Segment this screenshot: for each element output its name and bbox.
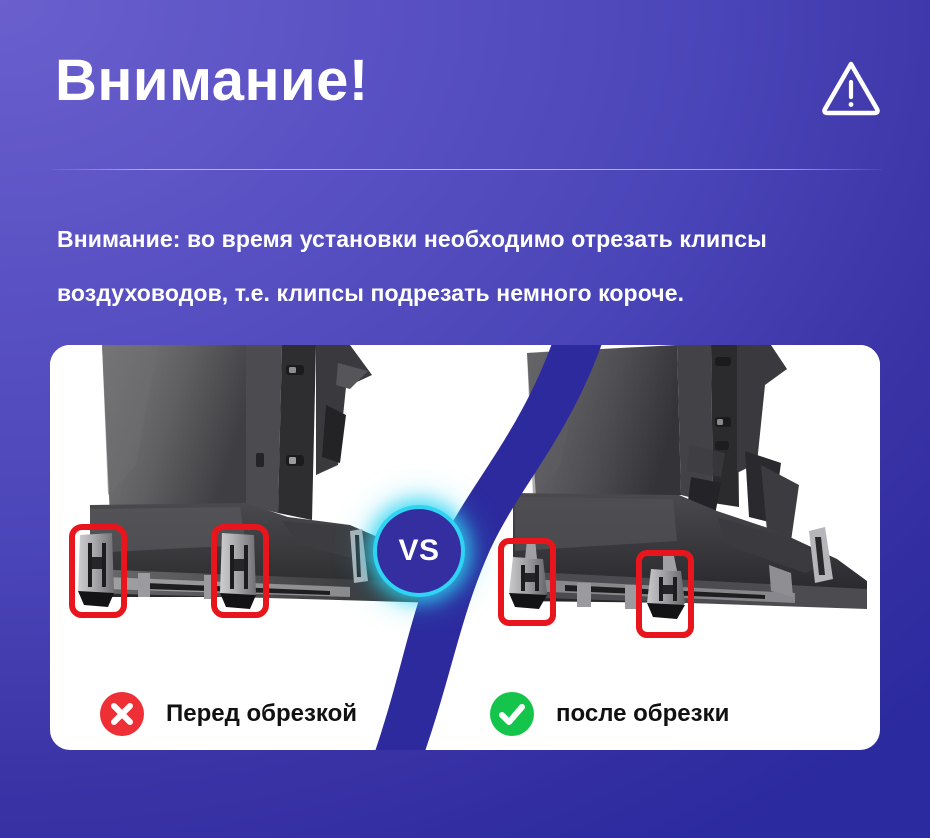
comparison-card: Перед обрезкой после обрезки <box>50 345 880 750</box>
lead-paragraph: Внимание: во время установки необходимо … <box>57 212 887 320</box>
photo-after <box>465 345 880 675</box>
caption-after-label: после обрезки <box>556 700 729 728</box>
header-divider <box>52 169 882 170</box>
caption-after: после обрезки <box>490 692 729 736</box>
vs-label: VS <box>398 534 439 568</box>
check-circle-icon <box>490 692 534 736</box>
warning-triangle-icon <box>820 58 882 118</box>
header: Внимание! <box>55 52 882 148</box>
caption-before: Перед обрезкой <box>100 692 357 736</box>
infographic-page: Внимание! Внимание: во время установки н… <box>0 0 930 838</box>
vs-badge: VS <box>373 505 465 597</box>
page-title: Внимание! <box>55 52 369 110</box>
cross-circle-icon <box>100 692 144 736</box>
panel-after <box>465 345 880 750</box>
caption-before-label: Перед обрезкой <box>166 700 357 728</box>
